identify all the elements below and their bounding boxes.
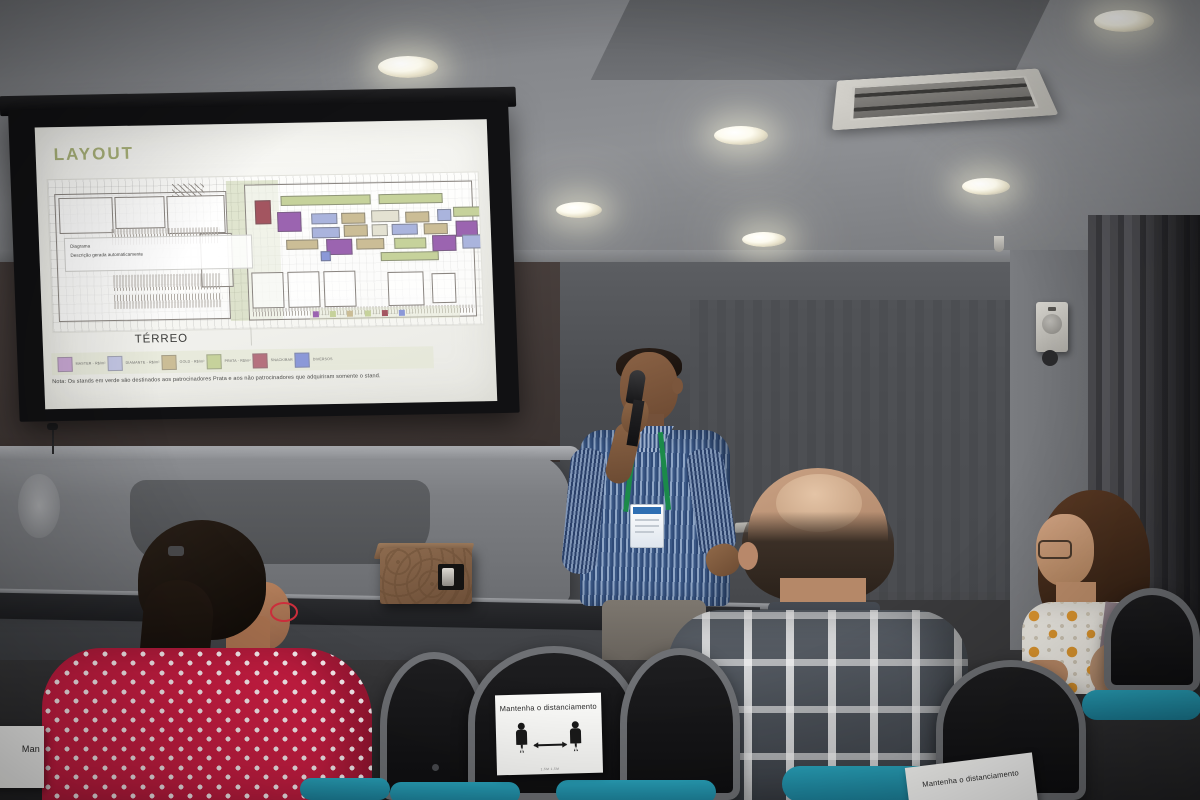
wooden-box (380, 548, 472, 604)
legend-label: PRATA - R$/m² (224, 359, 250, 363)
presenter-ear (672, 378, 683, 394)
divider (250, 328, 252, 346)
mini-legend-swatch (381, 310, 387, 316)
ceiling-light-icon (556, 202, 602, 218)
mini-legend-swatch (313, 311, 319, 317)
auditorium-scene: LAYOUT D (0, 0, 1200, 800)
mini-legend-label: ——— (338, 312, 345, 315)
ceiling-light-icon (742, 232, 786, 247)
stand-block (381, 251, 439, 261)
legend-item: GOLD - R$/m² (161, 354, 205, 370)
mini-legend-label: ——— (390, 311, 397, 314)
distancing-sign-title: Mantenha o distanciamento (495, 702, 601, 714)
legend-swatch (161, 354, 177, 369)
distancing-sign-footer: 1,5M 1,5M (497, 766, 603, 773)
stand-block (462, 234, 483, 248)
slide-legend: MASTER - R$/m²DIAMANTE - R$/m²GOLD - R$/… (51, 346, 434, 375)
alt-text-line-2: Descrição gerada automaticamente (70, 248, 246, 260)
attendee-front-left (20, 520, 380, 800)
legend-item: PRATA - R$/m² (206, 353, 251, 369)
ceiling-light-icon (378, 56, 438, 78)
microphone-stand (52, 428, 54, 454)
stand-block (286, 239, 318, 250)
ceiling-light-icon (714, 126, 768, 145)
mini-legend-swatch (399, 310, 405, 316)
mini-legend-label: ——— (372, 312, 379, 315)
floor-label: TÉRREO (134, 333, 188, 346)
wall-speaker-icon (1036, 302, 1068, 352)
stand-block (437, 209, 451, 221)
attendee-center-ear (738, 542, 758, 570)
legend-swatch (295, 352, 311, 367)
glasses-icon (270, 602, 298, 622)
stand-block (277, 212, 302, 232)
stand-block (311, 213, 337, 224)
hair-clip-icon (168, 546, 184, 556)
ceiling-light-icon (962, 178, 1010, 195)
mini-legend-label: ——— (321, 313, 328, 316)
person-pictogram-icon (514, 723, 529, 753)
stand-block (378, 193, 442, 204)
legend-swatch (57, 356, 73, 371)
legend-label: GOLD - R$/m² (180, 359, 205, 363)
stand-block (255, 200, 272, 224)
mini-legend-label: ——— (407, 311, 414, 314)
stand-block (321, 251, 331, 261)
legend-label: SNACK/BAR (271, 358, 293, 362)
legend-label: DIAMANTE - R$/m² (126, 360, 160, 365)
mini-legend-swatch (364, 310, 370, 316)
legend-swatch (252, 353, 268, 368)
stand-block (344, 224, 368, 236)
stand-block (481, 220, 484, 232)
floor-plan-alt-text: Diagrama Descrição gerada automaticament… (64, 235, 253, 272)
mini-legend-label: ——— (355, 312, 362, 315)
stand-block (280, 194, 370, 206)
sprinkler-icon (994, 236, 1004, 252)
mini-legend-swatch (330, 311, 336, 317)
stand-block (341, 212, 365, 223)
legend-item: DIAMANTE - R$/m² (107, 355, 160, 371)
ceiling-soffit (591, 0, 1070, 80)
legend-swatch (206, 354, 222, 369)
stand-block (453, 206, 484, 217)
distancing-sign-partial: Man (0, 726, 44, 788)
legend-label: MASTER - R$/m² (75, 361, 105, 366)
stand-block (356, 238, 384, 250)
legend-item: DIVERSOS (295, 352, 333, 368)
stand-block (371, 210, 399, 223)
speaker-bracket (1042, 350, 1058, 366)
glasses-icon (1038, 540, 1072, 559)
id-badge (630, 504, 664, 548)
chair-seat[interactable] (556, 780, 716, 800)
legend-swatch (107, 355, 123, 370)
stand-block (432, 235, 457, 251)
legend-item: MASTER - R$/m² (57, 356, 106, 372)
ceiling-light-icon (1094, 10, 1154, 32)
stand-block (394, 237, 426, 249)
projection-screen: LAYOUT D (8, 101, 520, 422)
chair-seat[interactable] (300, 778, 390, 800)
distancing-sign-title: Mantenha o distanciamento (907, 766, 1035, 791)
distance-arrow-icon (534, 744, 566, 746)
distancing-sign: Mantenha o distanciamento 1,5M 1,5M (495, 693, 603, 776)
slide-title: LAYOUT (53, 144, 134, 165)
stand-block (312, 227, 340, 239)
person-pictogram-icon (568, 721, 583, 751)
legend-item: SNACK/BAR (252, 352, 293, 368)
stand-block (392, 223, 418, 234)
legend-label: DIVERSOS (313, 357, 333, 361)
stand-block (424, 223, 448, 234)
ac-grille (850, 76, 1039, 121)
distancing-sign-partial-text: Man (0, 744, 44, 754)
podium-top (0, 446, 580, 460)
chair-seat[interactable] (390, 782, 520, 800)
mini-legend-swatch (347, 311, 353, 317)
stand-block (405, 211, 429, 222)
chair-seat[interactable] (1082, 690, 1200, 720)
slide-content: LAYOUT D (35, 119, 498, 409)
stand-block (372, 224, 388, 236)
microphone-head-icon (47, 423, 58, 430)
